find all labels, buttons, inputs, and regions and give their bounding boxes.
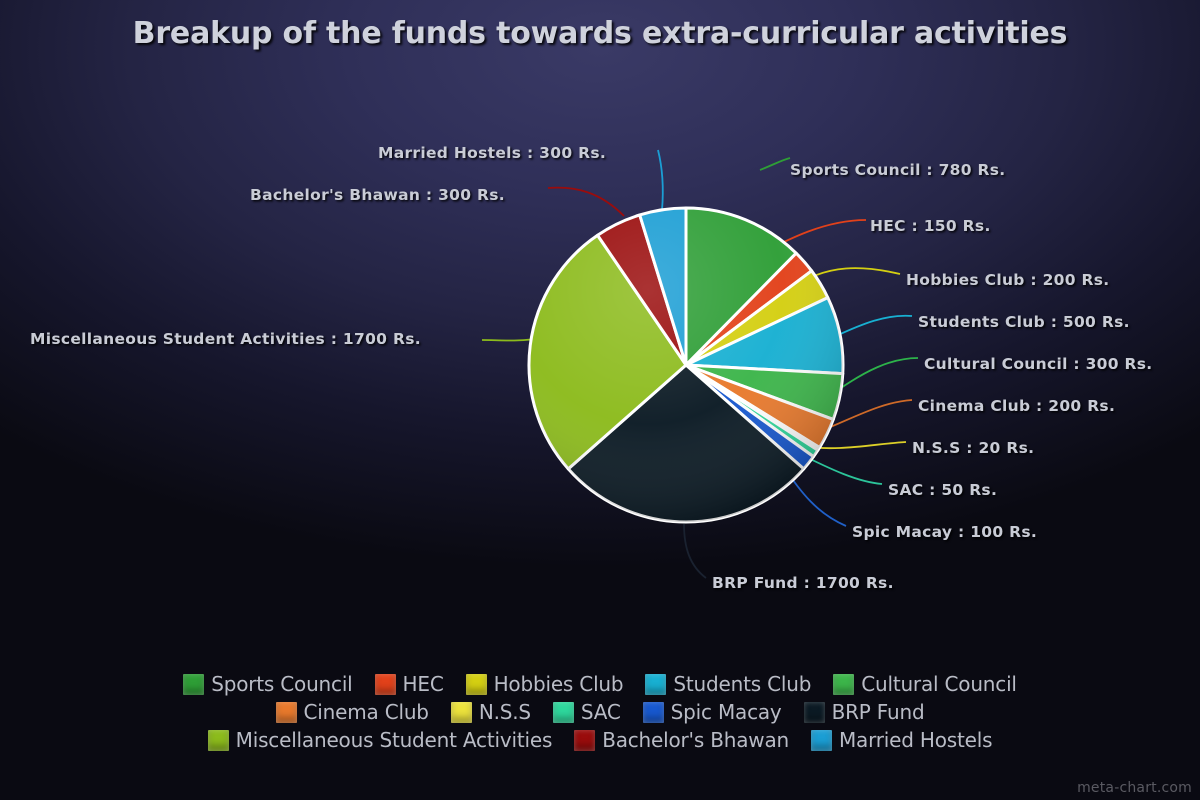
leader-line xyxy=(760,158,790,170)
chart-canvas: Breakup of the funds towards extra-curri… xyxy=(0,0,1200,800)
legend-row: Miscellaneous Student ActivitiesBachelor… xyxy=(0,726,1200,754)
legend-item[interactable]: Spic Macay xyxy=(643,700,782,724)
legend-item[interactable]: Sports Council xyxy=(183,672,352,696)
legend-item[interactable]: Students Club xyxy=(645,672,811,696)
data-label-cinema_club: Cinema Club : 200 Rs. xyxy=(918,397,1115,415)
legend-item[interactable]: Bachelor's Bhawan xyxy=(574,728,789,752)
legend-swatch-icon xyxy=(553,702,574,723)
data-label-hec: HEC : 150 Rs. xyxy=(870,217,991,235)
legend-label: Bachelor's Bhawan xyxy=(602,728,789,752)
legend-label: Hobbies Club xyxy=(494,672,624,696)
legend-item[interactable]: Married Hostels xyxy=(811,728,992,752)
watermark: meta-chart.com xyxy=(1077,780,1192,796)
pie-slices-group xyxy=(529,208,843,522)
legend-swatch-icon xyxy=(833,674,854,695)
leader-line xyxy=(838,358,918,390)
legend-item[interactable]: Cinema Club xyxy=(276,700,429,724)
legend-row: Cinema ClubN.S.SSACSpic MacayBRP Fund xyxy=(0,698,1200,726)
legend-row: Sports CouncilHECHobbies ClubStudents Cl… xyxy=(0,670,1200,698)
legend-swatch-icon xyxy=(208,730,229,751)
legend-swatch-icon xyxy=(276,702,297,723)
legend-label: Miscellaneous Student Activities xyxy=(236,728,553,752)
legend-item[interactable]: BRP Fund xyxy=(804,700,925,724)
legend-swatch-icon xyxy=(804,702,825,723)
legend-item[interactable]: Cultural Council xyxy=(833,672,1017,696)
data-label-married_hostels: Married Hostels : 300 Rs. xyxy=(378,144,606,162)
legend-label: Students Club xyxy=(673,672,811,696)
legend-label: Sports Council xyxy=(211,672,352,696)
legend-label: Cinema Club xyxy=(304,700,429,724)
legend-label: Cultural Council xyxy=(861,672,1017,696)
legend-label: Married Hostels xyxy=(839,728,992,752)
legend-swatch-icon xyxy=(466,674,487,695)
data-label-sac: SAC : 50 Rs. xyxy=(888,481,997,499)
legend-label: N.S.S xyxy=(479,700,531,724)
legend-item[interactable]: HEC xyxy=(375,672,444,696)
legend-label: SAC xyxy=(581,700,621,724)
legend-swatch-icon xyxy=(451,702,472,723)
legend-swatch-icon xyxy=(643,702,664,723)
leader-line xyxy=(684,524,706,578)
legend-item[interactable]: Hobbies Club xyxy=(466,672,624,696)
legend-item[interactable]: N.S.S xyxy=(451,700,531,724)
data-label-cultural_council: Cultural Council : 300 Rs. xyxy=(924,355,1152,373)
legend-swatch-icon xyxy=(183,674,204,695)
legend-swatch-icon xyxy=(574,730,595,751)
legend-item[interactable]: Miscellaneous Student Activities xyxy=(208,728,553,752)
leader-line xyxy=(548,188,624,216)
legend-swatch-icon xyxy=(811,730,832,751)
data-label-nss: N.S.S : 20 Rs. xyxy=(912,439,1034,457)
pie-plot-area: Sports Council : 780 Rs.HEC : 150 Rs.Hob… xyxy=(0,0,1200,660)
legend: Sports CouncilHECHobbies ClubStudents Cl… xyxy=(0,670,1200,754)
legend-label: BRP Fund xyxy=(832,700,925,724)
data-label-spic_macay: Spic Macay : 100 Rs. xyxy=(852,523,1037,541)
legend-swatch-icon xyxy=(375,674,396,695)
data-label-students_club: Students Club : 500 Rs. xyxy=(918,313,1130,331)
legend-label: HEC xyxy=(403,672,444,696)
legend-swatch-icon xyxy=(645,674,666,695)
data-label-hobbies_club: Hobbies Club : 200 Rs. xyxy=(906,271,1109,289)
legend-item[interactable]: SAC xyxy=(553,700,621,724)
leader-line xyxy=(658,150,663,210)
leader-line xyxy=(836,316,912,336)
data-label-misc_activities: Miscellaneous Student Activities : 1700 … xyxy=(30,330,421,348)
legend-label: Spic Macay xyxy=(671,700,782,724)
data-label-brp_fund: BRP Fund : 1700 Rs. xyxy=(712,574,894,592)
data-label-bachelors_bhawan: Bachelor's Bhawan : 300 Rs. xyxy=(250,186,505,204)
data-label-sports_council: Sports Council : 780 Rs. xyxy=(790,161,1005,179)
